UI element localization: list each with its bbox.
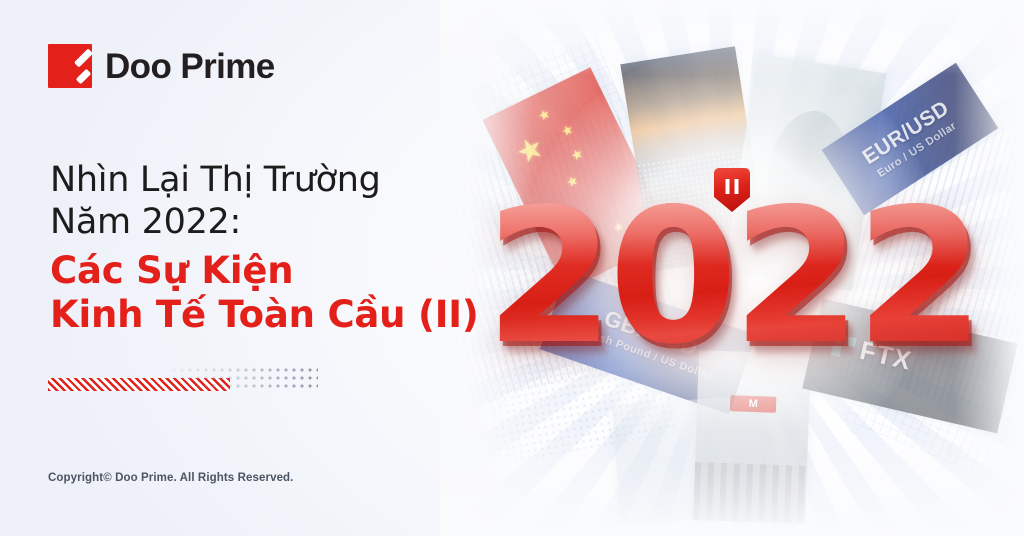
copyright-text: Copyright© Doo Prime. All Rights Reserve… [48,472,293,484]
brand-logo[interactable]: Doo Prime [48,44,275,88]
center-glow [522,47,942,467]
logo-slash-upper [74,48,93,67]
doo-prime-logo-mark-icon [48,44,92,88]
dot-matrix-gradient-icon [170,366,318,392]
headline-line-3: Các Sự Kiện [50,249,510,293]
headline-line-2: Năm 2022: [50,202,510,244]
headline-line-4: Kinh Tế Toàn Cầu (II) [50,293,510,337]
content-column: Doo Prime Nhìn Lại Thị Trường Năm 2022: … [0,0,500,536]
divider-decoration [48,364,318,396]
headline-block: Nhìn Lại Thị Trường Năm 2022: Các Sự Kiệ… [50,160,510,337]
promo-banner: ★ ★ ★ ★ ★ ★ ★ EUR/USD Euro / US Dollar G… [0,0,1024,536]
background-collage: ★ ★ ★ ★ ★ ★ ★ EUR/USD Euro / US Dollar G… [440,0,1024,536]
crowd-texture [693,462,807,524]
headline-line-1: Nhìn Lại Thị Trường [50,160,510,202]
brand-name: Doo Prime [105,49,275,84]
logo-slash-lower [76,69,92,85]
